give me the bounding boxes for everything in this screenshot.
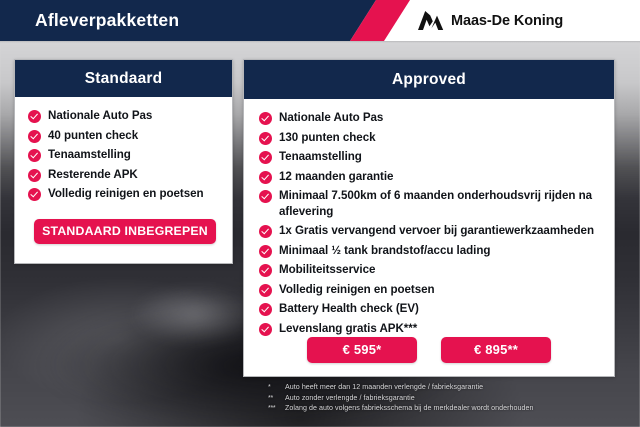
check-circle-icon — [259, 245, 272, 258]
footnote-marker: ** — [268, 393, 285, 404]
feature-label: Battery Health check (EV) — [279, 301, 419, 317]
approved-feature-list: Nationale Auto Pas 130 punten check Tena… — [244, 110, 614, 336]
feature-label: Resterende APK — [48, 167, 138, 183]
feature-label: Volledig reinigen en poetsen — [279, 282, 435, 298]
feature-label: 130 punten check — [279, 130, 376, 146]
list-item: Resterende APK — [28, 167, 224, 183]
list-item: Minimaal ½ tank brandstof/accu lading — [259, 243, 606, 259]
card-approved: Approved Nationale Auto Pas 130 punten c… — [243, 59, 615, 377]
list-item: 40 punten check — [28, 128, 224, 144]
standaard-feature-list: Nationale Auto Pas 40 punten check Tenaa… — [15, 108, 232, 202]
list-item: Minimaal 7.500km of 6 maanden onderhouds… — [259, 188, 606, 219]
check-circle-icon — [259, 171, 272, 184]
brand-logo: Maas-De Koning — [418, 8, 563, 33]
footnote-text: Auto heeft meer dan 12 maanden verlengde… — [285, 382, 628, 393]
footnotes: * Auto heeft meer dan 12 maanden verleng… — [268, 382, 628, 414]
feature-label: Tenaamstelling — [48, 147, 131, 163]
list-item: Mobiliteitsservice — [259, 262, 606, 278]
check-circle-icon — [28, 169, 41, 182]
feature-label: Tenaamstelling — [279, 149, 362, 165]
feature-label: 12 maanden garantie — [279, 169, 393, 185]
background-highlight — [130, 285, 260, 345]
list-item: 1x Gratis vervangend vervoer bij garanti… — [259, 223, 606, 239]
footnote-marker: * — [268, 382, 285, 393]
list-item: 130 punten check — [259, 130, 606, 146]
feature-label: 40 punten check — [48, 128, 138, 144]
footnote-text: Zolang de auto volgens fabrieksschema bi… — [285, 403, 628, 414]
check-circle-icon — [259, 132, 272, 145]
card-approved-body: Nationale Auto Pas 130 punten check Tena… — [244, 99, 614, 336]
check-circle-icon — [259, 225, 272, 238]
list-item: Levenslang gratis APK*** — [259, 321, 606, 337]
card-standaard: Standaard Nationale Auto Pas 40 punten c… — [14, 59, 233, 264]
list-item: Nationale Auto Pas — [259, 110, 606, 126]
check-circle-icon — [28, 149, 41, 162]
page-header: Afleverpakketten Maas-De Koning — [0, 0, 640, 41]
check-circle-icon — [259, 151, 272, 164]
check-circle-icon — [28, 130, 41, 143]
maas-m-icon — [418, 11, 444, 30]
feature-label: Nationale Auto Pas — [279, 110, 383, 126]
list-item: Tenaamstelling — [28, 147, 224, 163]
footnote-1: * Auto heeft meer dan 12 maanden verleng… — [268, 382, 628, 393]
page-title: Afleverpakketten — [35, 0, 179, 41]
check-circle-icon — [28, 110, 41, 123]
list-item: Volledig reinigen en poetsen — [259, 282, 606, 298]
list-item: Volledig reinigen en poetsen — [28, 186, 224, 202]
standaard-inbegrepen-button[interactable]: STANDAARD INBEGREPEN — [34, 219, 216, 244]
check-circle-icon — [259, 264, 272, 277]
footnote-3: *** Zolang de auto volgens fabrieksschem… — [268, 403, 628, 414]
price-button-895[interactable]: € 895** — [441, 337, 551, 363]
check-circle-icon — [259, 303, 272, 316]
list-item: Battery Health check (EV) — [259, 301, 606, 317]
footnote-2: ** Auto zonder verlengde / fabrieksgaran… — [268, 393, 628, 404]
check-circle-icon — [259, 323, 272, 336]
feature-label: Volledig reinigen en poetsen — [48, 186, 204, 202]
check-circle-icon — [259, 284, 272, 297]
check-circle-icon — [259, 112, 272, 125]
list-item: 12 maanden garantie — [259, 169, 606, 185]
price-button-row: € 595* € 895** — [244, 337, 614, 363]
feature-label: Levenslang gratis APK*** — [279, 321, 417, 337]
check-circle-icon — [259, 190, 272, 203]
feature-label: Mobiliteitsservice — [279, 262, 375, 278]
card-approved-title: Approved — [244, 60, 614, 99]
afleverpakketten-poster: Afleverpakketten Maas-De Koning Standaar… — [0, 0, 640, 427]
feature-label: Minimaal 7.500km of 6 maanden onderhouds… — [279, 188, 606, 219]
feature-label: Minimaal ½ tank brandstof/accu lading — [279, 243, 490, 259]
card-standaard-body: Nationale Auto Pas 40 punten check Tenaa… — [15, 97, 232, 202]
footnote-text: Auto zonder verlengde / fabrieksgarantie — [285, 393, 628, 404]
check-circle-icon — [28, 188, 41, 201]
brand-name: Maas-De Koning — [451, 13, 563, 29]
list-item: Tenaamstelling — [259, 149, 606, 165]
feature-label: Nationale Auto Pas — [48, 108, 152, 124]
header-divider — [0, 41, 640, 43]
feature-label: 1x Gratis vervangend vervoer bij garanti… — [279, 223, 594, 239]
card-standaard-title: Standaard — [15, 60, 232, 97]
list-item: Nationale Auto Pas — [28, 108, 224, 124]
footnote-marker: *** — [268, 403, 285, 414]
price-button-595[interactable]: € 595* — [307, 337, 417, 363]
